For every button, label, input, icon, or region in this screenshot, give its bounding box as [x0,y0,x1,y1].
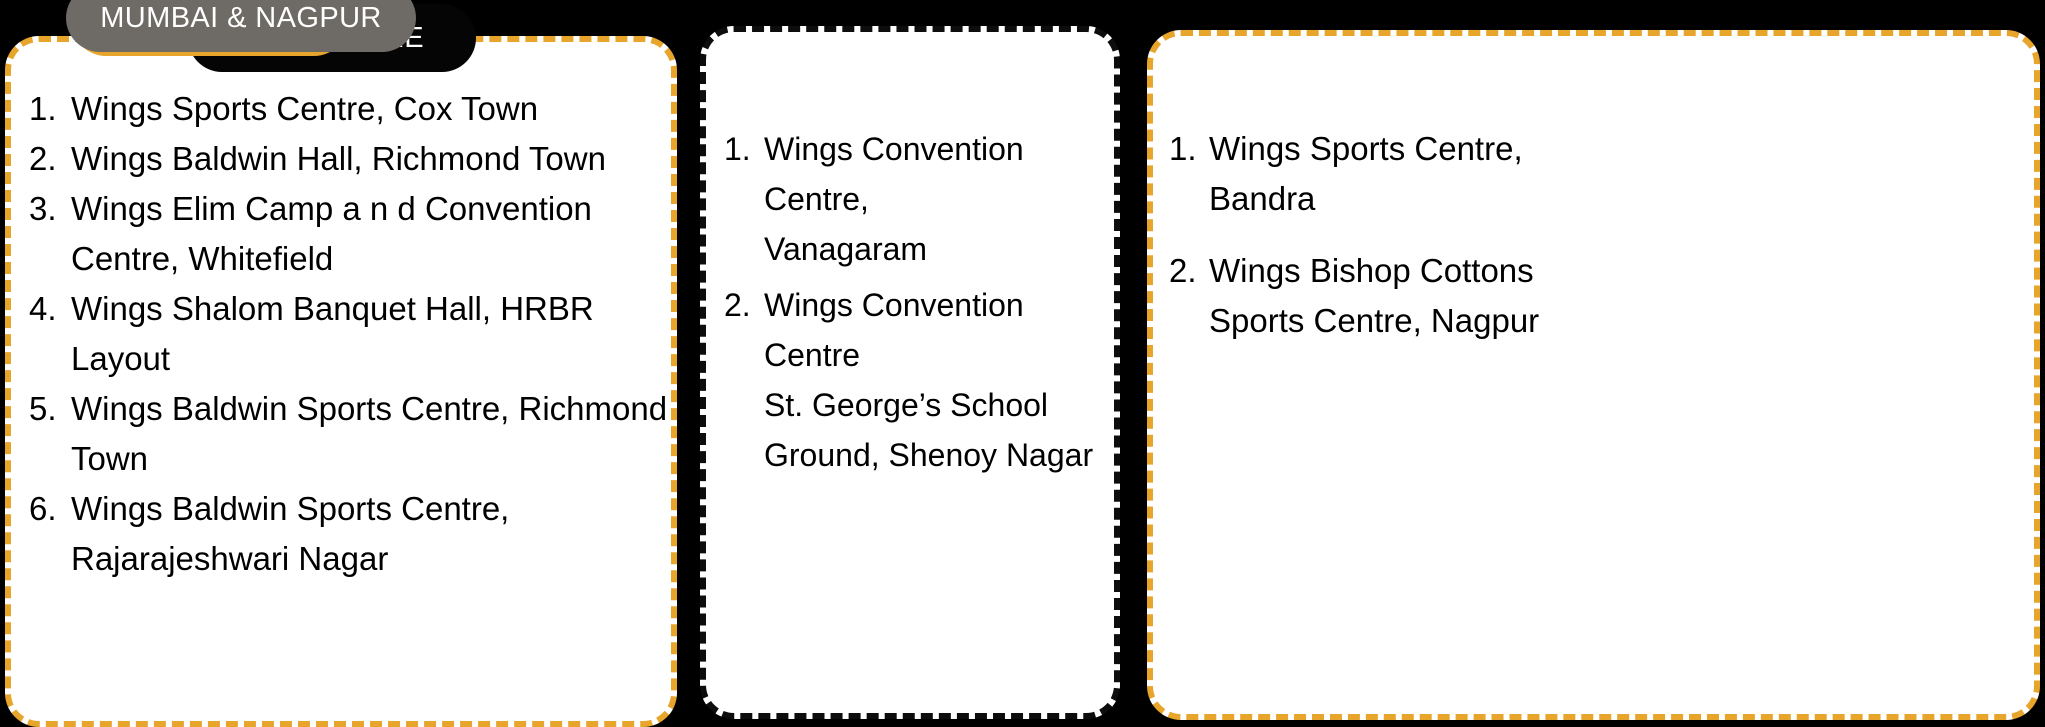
list-item-line-2: Sports Centre, Nagpur [1209,296,2029,346]
list-item-line-1: Wings Sports Centre, [1209,124,2029,174]
list-item-line-1: Wings Baldwin Sports Centre, Richmond [71,384,673,434]
card-header-pill-mumbai-nagpur: MUMBAI & NAGPUR [66,0,416,52]
venue-list-chennai: 1. Wings Convention Centre, Vanagaram 2.… [724,124,1114,486]
list-item-line-2: Town [71,434,673,484]
list-item: 1. Wings Sports Centre, Cox Town [29,84,673,134]
city-card-mumbai-nagpur: 1. Wings Sports Centre, Bandra 2. Wings … [1147,30,2040,720]
list-item-text: Wings Shalom Banquet Hall, HRBR Layout [71,284,673,384]
list-item-line-1: Wings Elim Camp a n d Convention [71,184,673,234]
list-item-line-1: Wings Convention Centre [764,280,1114,380]
list-item-line-1: Wings Convention Centre, [764,124,1114,224]
list-item-text: Wings Sports Centre, Cox Town [71,84,673,134]
list-item: 2. Wings Bishop Cottons Sports Centre, N… [1169,246,2029,346]
list-item: 5. Wings Baldwin Sports Centre, Richmond… [29,384,673,484]
list-item-number: 3. [29,184,71,234]
card-header-label: MUMBAI & NAGPUR [100,2,382,35]
list-item-text: Wings Baldwin Sports Centre, Rajarajeshw… [71,484,673,584]
list-item: 1. Wings Convention Centre, Vanagaram [724,124,1114,274]
list-item-line-2: Rajarajeshwari Nagar [71,534,673,584]
list-item-line-1: Wings Sports Centre, Cox Town [71,84,673,134]
list-item-number: 4. [29,284,71,334]
list-item-number: 5. [29,384,71,434]
list-item-text: Wings Sports Centre, Bandra [1209,124,2029,224]
list-item-line-1: Wings Baldwin Hall, Richmond Town [71,134,673,184]
list-item-number: 2. [29,134,71,184]
list-item-line-3: Ground, Shenoy Nagar [764,430,1114,480]
list-item: 1. Wings Sports Centre, Bandra [1169,124,2029,224]
city-card-chennai: 1. Wings Convention Centre, Vanagaram 2.… [700,26,1120,719]
venue-list-mumbai-nagpur: 1. Wings Sports Centre, Bandra 2. Wings … [1169,124,2029,368]
city-card-bangalore: 1. Wings Sports Centre, Cox Town 2. Wing… [5,36,677,727]
list-item: 4. Wings Shalom Banquet Hall, HRBR Layou… [29,284,673,384]
list-item-number: 1. [1169,124,1209,174]
list-item-text: Wings Convention Centre St. George’s Sch… [764,280,1114,480]
list-item-text: Wings Bishop Cottons Sports Centre, Nagp… [1209,246,2029,346]
list-item-line-2: Vanagaram [764,224,1114,274]
list-item: 2. Wings Baldwin Hall, Richmond Town [29,134,673,184]
list-item-number: 6. [29,484,71,534]
list-item-text: Wings Convention Centre, Vanagaram [764,124,1114,274]
list-item-line-2: Centre, Whitefield [71,234,673,284]
list-item-text: Wings Elim Camp a n d Convention Centre,… [71,184,673,284]
list-item: 3. Wings Elim Camp a n d Convention Cent… [29,184,673,284]
list-item: 2. Wings Convention Centre St. George’s … [724,280,1114,480]
list-item-number: 2. [724,280,764,330]
list-item-line-2: Bandra [1209,174,2029,224]
list-item-text: Wings Baldwin Hall, Richmond Town [71,134,673,184]
list-item-text: Wings Baldwin Sports Centre, Richmond To… [71,384,673,484]
list-item-number: 2. [1169,246,1209,296]
list-item-line-1: Wings Bishop Cottons [1209,246,2029,296]
list-item-line-2: St. George’s School [764,380,1114,430]
list-item-number: 1. [29,84,71,134]
list-item-line-1: Wings Shalom Banquet Hall, HRBR Layout [71,284,673,384]
list-item-number: 1. [724,124,764,174]
venue-list-bangalore: 1. Wings Sports Centre, Cox Town 2. Wing… [29,84,673,584]
venues-board: 1. Wings Sports Centre, Cox Town 2. Wing… [0,0,2045,727]
list-item: 6. Wings Baldwin Sports Centre, Rajaraje… [29,484,673,584]
list-item-line-1: Wings Baldwin Sports Centre, [71,484,673,534]
